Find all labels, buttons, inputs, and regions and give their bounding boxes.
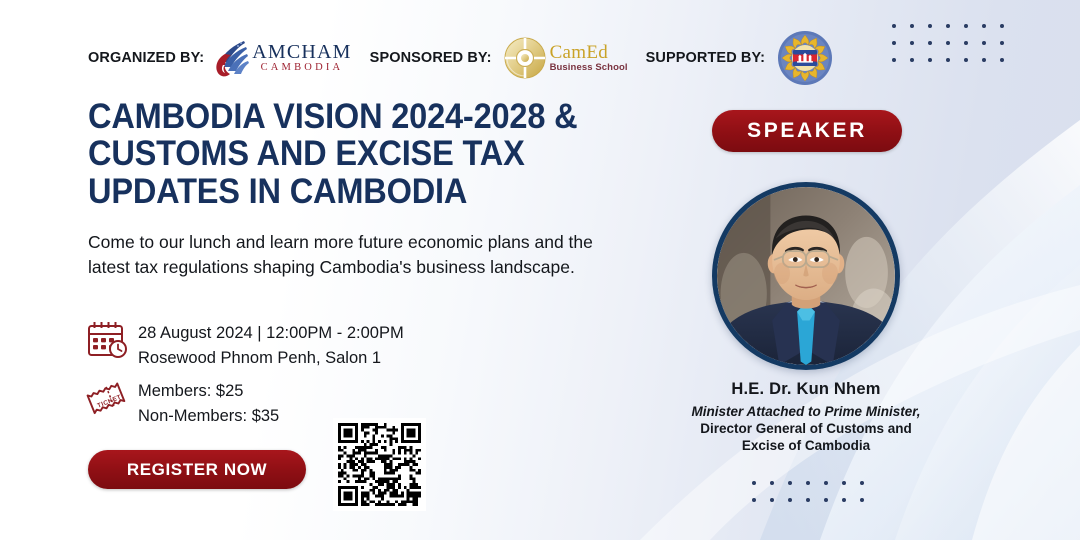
event-datetime-block: 28 August 2024 | 12:00PM - 2:00PM Rosewo…	[86, 320, 404, 370]
partner-organized-by: ORGANIZED BY: AMCHAM CAMBODIA	[88, 38, 370, 78]
dot-grid-bottom-right	[752, 481, 878, 515]
event-description: Come to our lunch and learn more future …	[88, 230, 608, 280]
speaker-role-line-1: Minister Attached to Prime Minister,	[666, 404, 946, 419]
page-title: CAMBODIA VISION 2024-2028 & CUSTOMS AND …	[88, 98, 581, 210]
event-venue: Rosewood Phnom Penh, Salon 1	[138, 347, 404, 369]
calendar-clock-icon	[86, 320, 138, 360]
sponsored-by-label: SPONSORED BY:	[370, 50, 492, 66]
title-line-3: UPDATES IN CAMBODIA	[88, 173, 581, 210]
qr-code[interactable]	[333, 418, 426, 511]
event-pricing-block: TICKET Members: $25 Non-Members: $35	[86, 378, 279, 428]
title-line-1: CAMBODIA VISION 2024-2028 &	[88, 98, 581, 135]
price-members: Members: $25	[138, 380, 279, 402]
amcham-wordmark: AMCHAM	[252, 42, 351, 62]
camed-subwordmark: Business School	[550, 63, 628, 73]
speaker-role-line-2: Director General of Customs and	[666, 421, 946, 436]
supported-by-label: SUPPORTED BY:	[646, 50, 765, 66]
government-seal-icon	[777, 30, 833, 86]
amcham-cambodia-logo: AMCHAM CAMBODIA	[214, 38, 351, 78]
ticket-icon: TICKET	[86, 378, 138, 418]
speaker-name: H.E. Dr. Kun Nhem	[666, 380, 946, 399]
speaker-role-line-3: Excise of Cambodia	[666, 438, 946, 453]
qr-code-image	[338, 423, 421, 506]
speaker-portrait	[712, 182, 900, 370]
cambodia-government-emblem	[777, 30, 833, 86]
camed-wordmark: CamEd	[550, 43, 628, 63]
speaker-caption: H.E. Dr. Kun Nhem Minister Attached to P…	[666, 380, 946, 453]
partner-sponsored-by: SPONSORED BY:	[370, 35, 646, 81]
title-line-2: CUSTOMS AND EXCISE TAX	[88, 135, 581, 172]
register-now-button[interactable]: REGISTER NOW	[88, 450, 306, 489]
partner-supported-by: SUPPORTED BY:	[646, 30, 833, 86]
cambodia-flag-icon	[793, 50, 817, 66]
event-poster: ORGANIZED BY: AMCHAM CAMBODIA	[0, 0, 1080, 540]
camed-circle-icon	[502, 35, 548, 81]
speaker-badge: SPEAKER	[712, 110, 902, 152]
amcham-subwordmark: CAMBODIA	[252, 63, 351, 74]
dot-grid-top-right	[892, 24, 1018, 75]
organized-by-label: ORGANIZED BY:	[88, 50, 204, 66]
camed-business-school-logo: CamEd Business School	[502, 35, 628, 81]
amcham-eagle-icon	[214, 38, 250, 78]
price-non-members: Non-Members: $35	[138, 405, 279, 427]
partner-logos-row: ORGANIZED BY: AMCHAM CAMBODIA	[88, 36, 833, 80]
event-date-time: 28 August 2024 | 12:00PM - 2:00PM	[138, 322, 404, 344]
